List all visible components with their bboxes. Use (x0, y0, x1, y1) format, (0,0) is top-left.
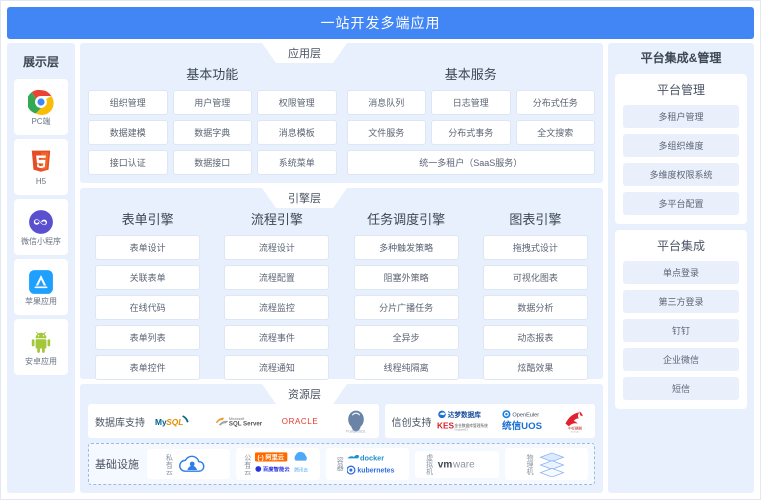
device-card-pc[interactable]: PC端 (14, 79, 68, 135)
card-title: 平台集成 (657, 237, 705, 254)
device-label: 微信小程序 (21, 238, 61, 246)
engine-title: 表单引擎 (122, 209, 174, 228)
service-chip-saas[interactable]: 统一多租户（SaaS服务） (347, 150, 596, 175)
resource-layer-panel: 资源层 数据库支持 My SQL (80, 384, 603, 493)
engine-chip[interactable]: 流程设计 (224, 235, 329, 260)
chip-grid: 消息队列 日志管理 分布式任务 文件服务 分布式事务 全文搜索 统一多租户（Sa… (347, 90, 596, 175)
application-layer-tab: 应用层 (276, 43, 333, 63)
vmware-logo-icon: vm ware (437, 455, 489, 473)
postgresql-logo-icon: PostgreSQL (345, 409, 367, 433)
xinchuang-logos: 达梦数据库 KES 金仓数据库管理系统 KingbaseES (437, 408, 588, 434)
architecture-diagram: 一站开发多端应用 展示层 PC端 (0, 0, 761, 500)
service-chip[interactable]: 分布式事务 (431, 120, 511, 145)
svg-text:kubernetes: kubernetes (358, 468, 395, 475)
device-card-h5[interactable]: H5 (14, 139, 68, 195)
integration-chip[interactable]: 钉钉 (623, 319, 739, 342)
svg-text:达梦数据库: 达梦数据库 (448, 410, 481, 419)
engine-chip[interactable]: 表单控件 (95, 355, 200, 380)
device-label: PC端 (31, 118, 50, 126)
infra-box-physical-machine[interactable]: 物理机 (505, 448, 588, 480)
engine-chip[interactable]: 关联表单 (95, 265, 200, 290)
svg-text:vm: vm (437, 460, 452, 471)
engine-chip[interactable]: 在线代码 (95, 295, 200, 320)
svg-text:金仓数据库管理系统: 金仓数据库管理系统 (454, 423, 488, 428)
engine-title: 流程引擎 (251, 209, 303, 228)
database-support-box: 数据库支持 My SQL (88, 404, 379, 438)
feature-chip[interactable]: 数据建模 (88, 120, 168, 145)
infrastructure-row: 基础设施 私有云 公有云 (88, 443, 595, 485)
platform-chip[interactable]: 多租户管理 (623, 105, 739, 128)
svg-text:KES: KES (437, 421, 454, 430)
engine-chip[interactable]: 流程通知 (224, 355, 329, 380)
device-label: H5 (36, 178, 46, 186)
svg-text:My: My (155, 417, 167, 427)
feature-chip[interactable]: 数据字典 (173, 120, 253, 145)
oracle-logo-icon: ORACLE (281, 414, 329, 428)
engine-scheduler: 任务调度引擎 多种触发策略 阻塞外策略 分片广播任务 全异步 线程纯隔离 (347, 208, 466, 380)
android-icon (28, 329, 54, 355)
service-chip[interactable]: 全文搜索 (516, 120, 596, 145)
engine-chip[interactable]: 数据分析 (483, 295, 588, 320)
svg-text:OpenEuler: OpenEuler (513, 413, 540, 419)
infra-tag: 容器 (336, 457, 343, 471)
openeuler-uos-logo-icon: OpenEuler 统信UOS (502, 408, 554, 434)
engine-layer-tab: 引擎层 (276, 188, 333, 208)
infra-tag: 物理机 (526, 454, 533, 475)
engine-item-list: 多种触发策略 阻塞外策略 分片广播任务 全异步 线程纯隔离 (354, 235, 459, 380)
dameng-kes-logo-icon: 达梦数据库 KES 金仓数据库管理系统 KingbaseES (437, 408, 495, 434)
mysql-logo-icon: My SQL (155, 411, 199, 431)
infra-tag: 虚拟机 (425, 454, 432, 475)
page-title: 一站开发多端应用 (7, 7, 754, 39)
wechat-miniprogram-icon (28, 209, 54, 235)
html5-icon (28, 149, 54, 175)
platform-chip[interactable]: 多组织维度 (623, 134, 739, 157)
neokylin-logo-icon: 中标麒麟 NeoKylin (562, 408, 588, 434)
infra-box-public-cloud[interactable]: 公有云 (-) 阿里云 百度智能云 腾讯云 (236, 448, 319, 480)
application-layer-groups: 基本功能 组织管理 用户管理 权限管理 数据建模 数据字典 消息模板 接口认证 … (88, 63, 595, 175)
group-title: 基本功能 (186, 64, 238, 83)
integration-chip[interactable]: 单点登录 (623, 261, 739, 284)
private-cloud-icon (176, 452, 212, 476)
engine-chip[interactable]: 全异步 (354, 325, 459, 350)
device-card-ios[interactable]: 苹果应用 (14, 259, 68, 315)
device-label: 安卓应用 (25, 358, 57, 366)
presentation-layer-title: 展示层 (23, 53, 59, 70)
infrastructure-label: 基础设施 (95, 456, 141, 472)
device-card-wechat-miniprogram[interactable]: 微信小程序 (14, 199, 68, 255)
platform-column: 平台集成&管理 平台管理 多租户管理 多组织维度 多维度权限系统 多平台配置 平… (608, 43, 754, 493)
engine-chip[interactable]: 炫酷效果 (483, 355, 588, 380)
engine-title: 图表引擎 (509, 209, 561, 228)
database-logos: My SQL Microsoft SQL Serv (150, 409, 372, 433)
platform-integration-card: 平台集成 单点登录 第三方登录 钉钉 企业微信 短信 (615, 230, 747, 409)
feature-chip[interactable]: 系统菜单 (257, 150, 337, 175)
xinchuang-support-box: 信创支持 达梦数据库 KES 金仓数据库管理系统 KingbaseES (385, 404, 595, 438)
engine-chip[interactable]: 动态报表 (483, 325, 588, 350)
resource-top-row: 数据库支持 My SQL (88, 404, 595, 438)
svg-text:ware: ware (452, 460, 475, 471)
svg-text:(-) 阿里云: (-) 阿里云 (257, 453, 284, 461)
infra-box-container[interactable]: 容器 docker kubernetes (326, 448, 409, 480)
layers-column: 应用层 基本功能 组织管理 用户管理 权限管理 数据建模 数据字典 消息模板 接… (80, 43, 603, 493)
engine-form: 表单引擎 表单设计 关联表单 在线代码 表单列表 表单控件 (88, 208, 207, 380)
svg-text:腾讯云: 腾讯云 (294, 466, 308, 473)
feature-chip[interactable]: 消息模板 (257, 120, 337, 145)
public-cloud-logos-icon: (-) 阿里云 百度智能云 腾讯云 (255, 451, 313, 477)
engine-chip[interactable]: 阻塞外策略 (354, 265, 459, 290)
xinchuang-support-label: 信创支持 (392, 414, 432, 429)
server-stack-icon (537, 451, 567, 477)
feature-chip[interactable]: 组织管理 (88, 90, 168, 115)
service-chip[interactable]: 文件服务 (347, 120, 427, 145)
engine-chip[interactable]: 流程监控 (224, 295, 329, 320)
engine-chip[interactable]: 分片广播任务 (354, 295, 459, 320)
engine-chip[interactable]: 表单列表 (95, 325, 200, 350)
svg-text:ORACLE: ORACLE (282, 417, 319, 426)
svg-text:SQL Server: SQL Server (229, 421, 263, 428)
engine-chart: 图表引擎 拖拽式设计 可视化图表 数据分析 动态报表 炫酷效果 (476, 208, 595, 380)
integration-chip[interactable]: 短信 (623, 377, 739, 400)
app-store-icon (28, 269, 54, 295)
group-title: 基本服务 (445, 64, 497, 83)
chrome-icon (28, 89, 54, 115)
service-chip[interactable]: 日志管理 (431, 90, 511, 115)
platform-chip[interactable]: 多维度权限系统 (623, 163, 739, 186)
engine-chip[interactable]: 流程配置 (224, 265, 329, 290)
svg-text:NeoKylin: NeoKylin (570, 432, 579, 434)
group-basic-functions: 基本功能 组织管理 用户管理 权限管理 数据建模 数据字典 消息模板 接口认证 … (88, 63, 337, 175)
chip-grid: 组织管理 用户管理 权限管理 数据建模 数据字典 消息模板 接口认证 数据接口 … (88, 90, 337, 175)
engine-item-list: 拖拽式设计 可视化图表 数据分析 动态报表 炫酷效果 (483, 235, 588, 380)
svg-text:百度智能云: 百度智能云 (263, 465, 290, 473)
engine-layer-panel: 引擎层 表单引擎 表单设计 关联表单 在线代码 表单列表 表单控件 流程 (80, 188, 603, 379)
resource-layer-tab: 资源层 (276, 384, 333, 404)
database-support-label: 数据库支持 (95, 414, 145, 429)
infra-tag: 私有云 (165, 454, 172, 475)
sqlserver-logo-icon: Microsoft SQL Server (215, 412, 265, 430)
svg-text:统信UOS: 统信UOS (502, 420, 543, 432)
feature-chip[interactable]: 用户管理 (173, 90, 253, 115)
diagram-body: 展示层 PC端 H5 (1, 43, 760, 499)
card-title: 平台管理 (657, 81, 705, 98)
svg-text:中标麒麟: 中标麒麟 (568, 426, 582, 431)
engine-chip[interactable]: 拖拽式设计 (483, 235, 588, 260)
engine-item-list: 表单设计 关联表单 在线代码 表单列表 表单控件 (95, 235, 200, 380)
integration-chip[interactable]: 企业微信 (623, 348, 739, 371)
service-chip[interactable]: 分布式任务 (516, 90, 596, 115)
device-card-android[interactable]: 安卓应用 (14, 319, 68, 375)
engine-chip[interactable]: 表单设计 (95, 235, 200, 260)
infra-box-private-cloud[interactable]: 私有云 (147, 449, 230, 479)
svg-text:KingbaseES: KingbaseES (454, 429, 468, 432)
svg-text:docker: docker (360, 454, 384, 463)
engine-chip[interactable]: 流程事件 (224, 325, 329, 350)
feature-chip[interactable]: 接口认证 (88, 150, 168, 175)
infra-box-virtual-machine[interactable]: 虚拟机 vm ware (415, 451, 498, 478)
service-chip[interactable]: 消息队列 (347, 90, 427, 115)
feature-chip[interactable]: 数据接口 (173, 150, 253, 175)
engine-item-list: 流程设计 流程配置 流程监控 流程事件 流程通知 (224, 235, 329, 380)
application-layer-panel: 应用层 基本功能 组织管理 用户管理 权限管理 数据建模 数据字典 消息模板 接… (80, 43, 603, 183)
engine-title: 任务调度引擎 (367, 209, 445, 228)
feature-chip[interactable]: 权限管理 (257, 90, 337, 115)
presentation-layer-column: 展示层 PC端 H5 (7, 43, 75, 493)
engine-chip[interactable]: 可视化图表 (483, 265, 588, 290)
group-basic-services: 基本服务 消息队列 日志管理 分布式任务 文件服务 分布式事务 全文搜索 统一多… (347, 63, 596, 175)
engine-chip[interactable]: 线程纯隔离 (354, 355, 459, 380)
platform-management-card: 平台管理 多租户管理 多组织维度 多维度权限系统 多平台配置 (615, 74, 747, 224)
svg-text:PostgreSQL: PostgreSQL (346, 429, 366, 433)
engine-chip[interactable]: 多种触发策略 (354, 235, 459, 260)
platform-chip[interactable]: 多平台配置 (623, 192, 739, 215)
engine-layer-columns: 表单引擎 表单设计 关联表单 在线代码 表单列表 表单控件 流程引擎 流程设计 (88, 208, 595, 380)
integration-chip[interactable]: 第三方登录 (623, 290, 739, 313)
svg-text:SQL: SQL (166, 417, 183, 427)
infra-tag: 公有云 (243, 454, 250, 475)
device-label: 苹果应用 (25, 298, 57, 306)
docker-kubernetes-icon: docker kubernetes (347, 451, 399, 477)
platform-column-title: 平台集成&管理 (641, 49, 722, 66)
engine-process: 流程引擎 流程设计 流程配置 流程监控 流程事件 流程通知 (217, 208, 336, 380)
